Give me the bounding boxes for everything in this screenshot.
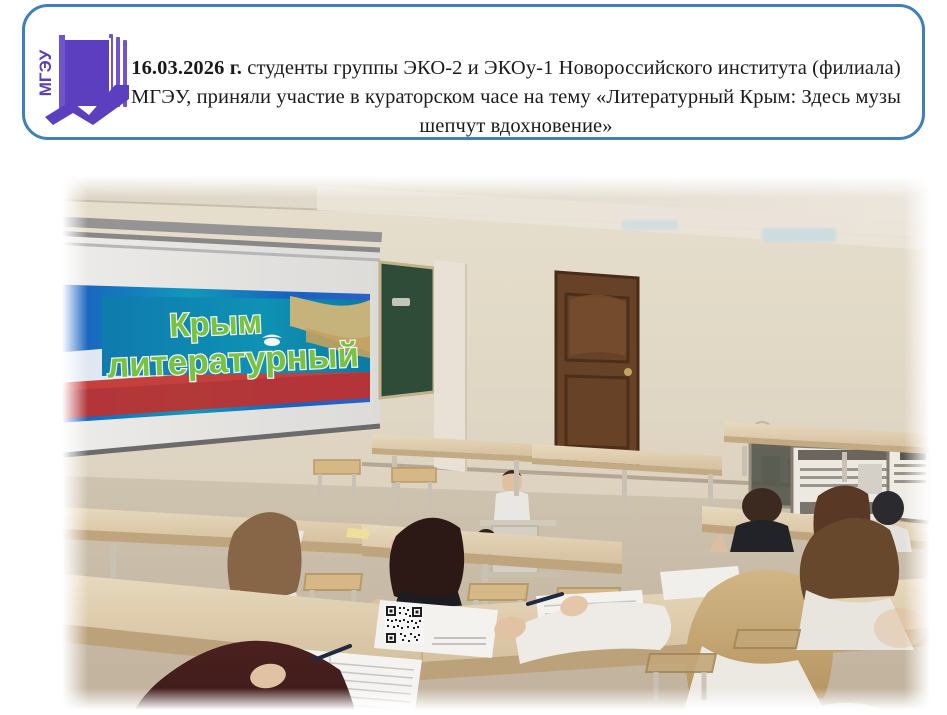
event-photo: Студенты в аудитории на кураторском часе… [62, 176, 930, 710]
header-card: МГЭУ 16.03.2026 г. студенты группы ЭКО-2… [22, 4, 925, 140]
header-announcement-text: 16.03.2026 г. студенты группы ЭКО-2 и ЭК… [121, 54, 911, 141]
announcement-date: 16.03.2026 г. [131, 57, 242, 79]
mgeu-logo-text: МГЭУ [37, 49, 55, 96]
announcement-body: студенты группы ЭКО-2 и ЭКОу-1 Новоросси… [131, 57, 901, 137]
